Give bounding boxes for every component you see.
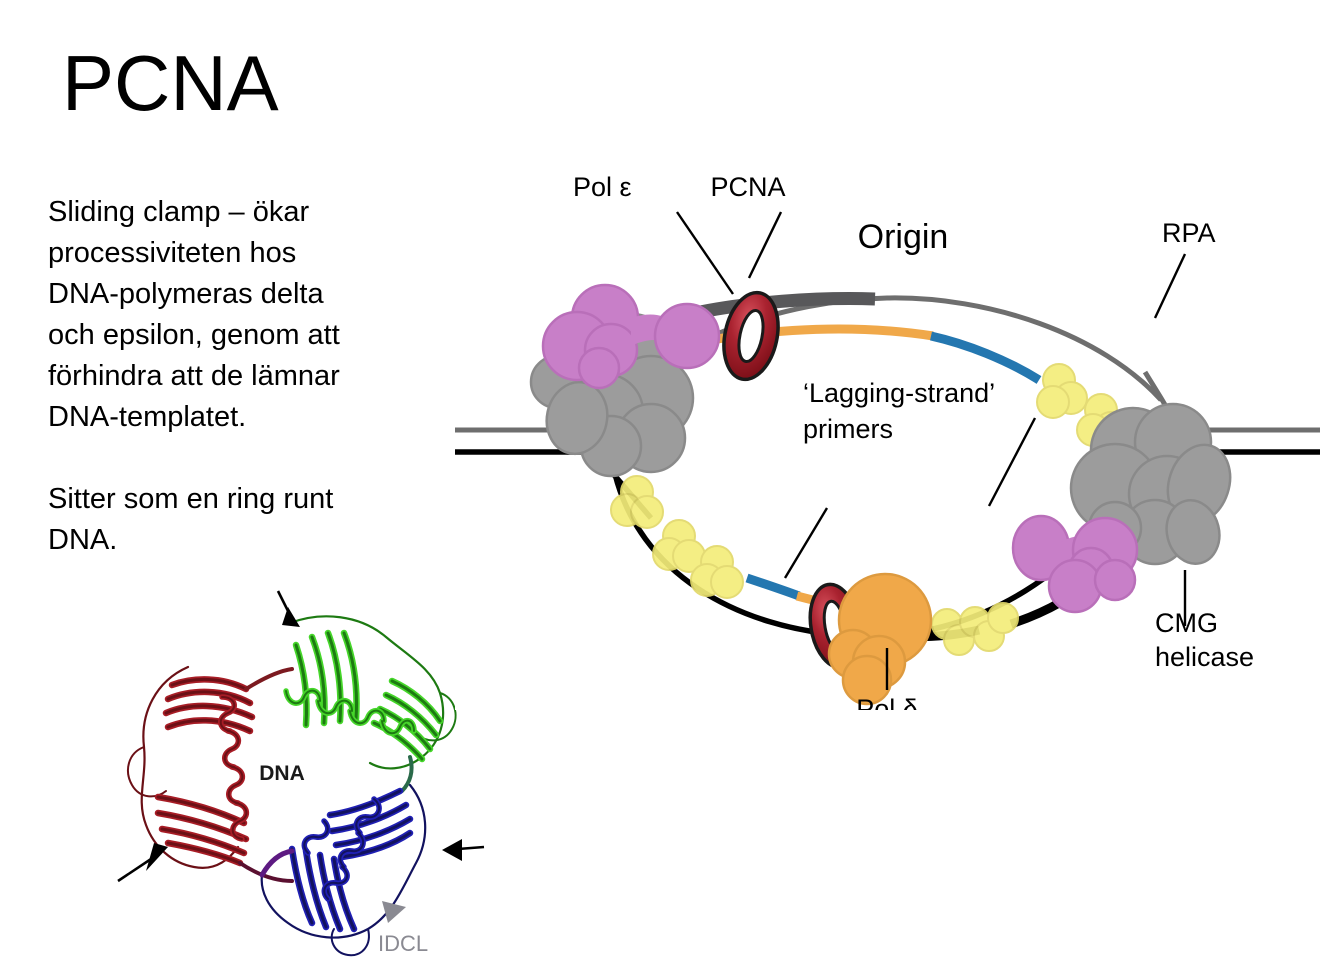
label-origin: Origin (858, 218, 949, 256)
label-lagging-strand-primers-line1: ‘Lagging-strand’ (803, 378, 995, 408)
label-pol-epsilon: Pol ε (573, 172, 632, 202)
pcna-structure-image: DNA IDCL (110, 585, 490, 978)
label-cmg-helicase-line1: CMG (1155, 608, 1218, 638)
label-pcna: PCNA (710, 172, 785, 202)
page-title: PCNA (62, 44, 279, 122)
body-paragraph-1: Sliding clamp – ökar processiviteten hos… (48, 192, 348, 438)
replication-bubble-diagram: Pol ε PCNA Origin RPA ‘Lagging-strand’ p… (455, 150, 1320, 710)
structure-idcl-label: IDCL (378, 931, 428, 956)
body-paragraph-2: Sitter som en ring runt DNA. (48, 479, 348, 561)
label-rpa: RPA (1162, 218, 1216, 248)
body-text-block: Sliding clamp – ökar processiviteten hos… (48, 192, 348, 561)
structure-dna-label: DNA (259, 762, 305, 785)
label-cmg-helicase-line2: helicase (1155, 642, 1254, 672)
label-lagging-strand-primers-line2: primers (803, 414, 893, 444)
label-pol-delta: Pol δ (856, 694, 918, 710)
